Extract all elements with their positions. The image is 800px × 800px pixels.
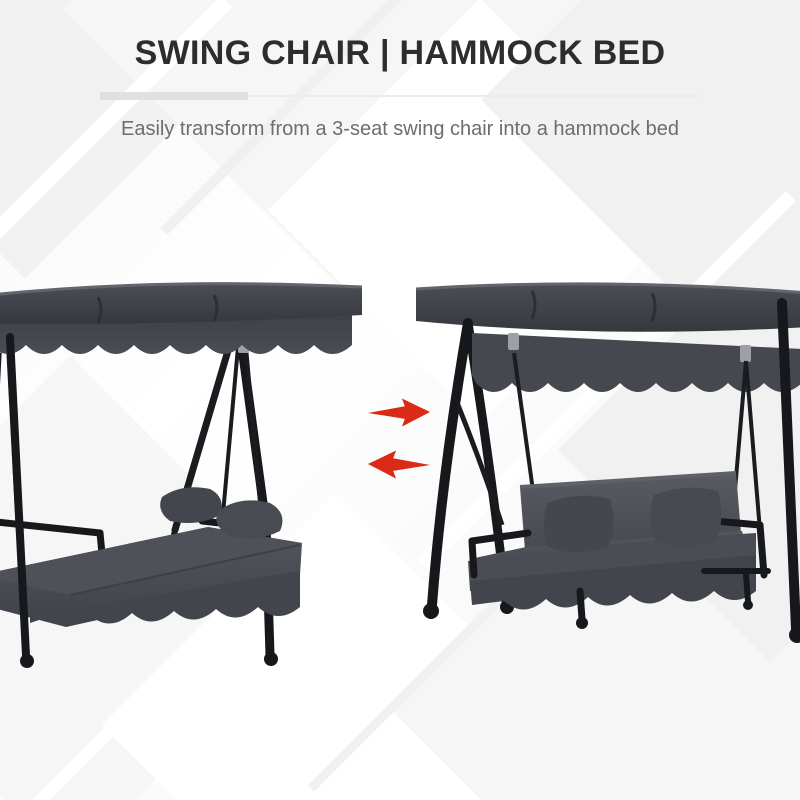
convert-to-hammock-arrow xyxy=(366,398,432,428)
convert-to-chair-arrow xyxy=(366,450,432,480)
canopy-valance-right xyxy=(472,333,800,392)
pillow-right-2 xyxy=(650,488,721,546)
pillow-left-1 xyxy=(160,487,221,523)
divider-accent xyxy=(100,92,248,100)
page-subtitle: Easily transform from a 3-seat swing cha… xyxy=(0,118,800,141)
title-divider xyxy=(100,92,700,101)
product-swing-chair xyxy=(412,275,800,675)
product-hammock-bed xyxy=(0,275,390,675)
page-title: SWING CHAIR | HAMMOCK BED xyxy=(0,34,800,73)
product-feature-image: SWING CHAIR | HAMMOCK BED Easily transfo… xyxy=(0,0,800,800)
canopy-top-right xyxy=(416,284,800,332)
pillow-right-1 xyxy=(544,496,614,552)
pillow-left-2 xyxy=(216,500,282,538)
transform-arrows xyxy=(360,392,440,488)
